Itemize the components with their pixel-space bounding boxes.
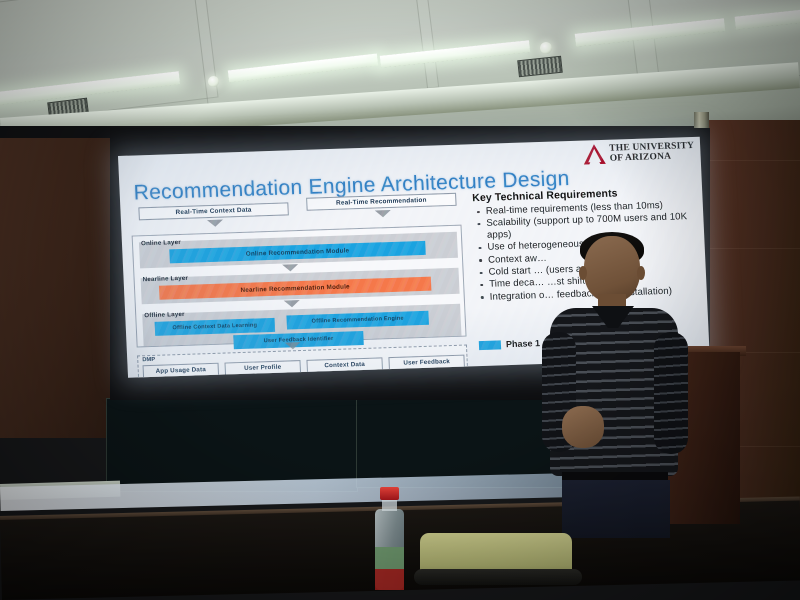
presenter-ear [637,266,645,280]
top-box-context: Real-Time Context Data [138,202,289,220]
blackboard [106,398,358,492]
downlight-icon [540,42,552,54]
presenter-head [584,236,640,302]
water-bottle [373,487,406,590]
downlight-icon [208,76,219,87]
dmp-cell-user-profile: User Profile [224,360,301,376]
photo-scene: THE UNIVERSITY OF ARIZONA Recommendation… [0,0,800,600]
dmp-cell-user-feedback: User Feedback [388,355,465,371]
bottle-neck [382,499,397,511]
ceiling [0,0,800,135]
presenter-hands [562,406,604,448]
flow-arrow-down-icon [285,342,301,350]
flow-arrow-down-icon [375,210,391,218]
wood-panel-left [0,138,120,438]
logo-line-2: OF ARIZONA [610,152,672,164]
layer-container: Online Layer Online Recommendation Modul… [132,225,467,348]
dmp-title: DMP [142,357,155,363]
legend-swatch-phase1 [479,340,501,350]
dmp-cell-app-usage-data: App Usage Data [143,363,220,378]
presenter-legs [562,480,670,538]
dmp-cell-context-data: Context Data [306,357,383,373]
flow-arrow-down-icon [207,220,223,228]
university-logo: THE UNIVERSITY OF ARIZONA [582,140,695,166]
flow-arrow-down-icon [282,264,298,272]
chair [420,533,572,600]
university-logo-text: THE UNIVERSITY OF ARIZONA [609,141,695,164]
offline-layer-label: Offline Layer [144,311,185,319]
online-layer-label: Online Layer [141,239,181,247]
presenter [536,236,704,536]
flow-arrow-down-icon [284,300,300,308]
presenter-arm-right [654,332,688,454]
dmp-container: DMP App Usage Data User Profile Context … [137,345,468,378]
legend-label-phase1: Phase 1 [506,338,540,349]
bottle-label-green [375,547,404,569]
nearline-layer-label: Nearline Layer [142,275,188,283]
bottle-label-red [375,569,404,590]
bottle-cap [380,487,399,500]
arizona-a-icon [582,143,607,166]
presenter-ear [579,266,587,280]
chair-armrest [414,569,582,585]
